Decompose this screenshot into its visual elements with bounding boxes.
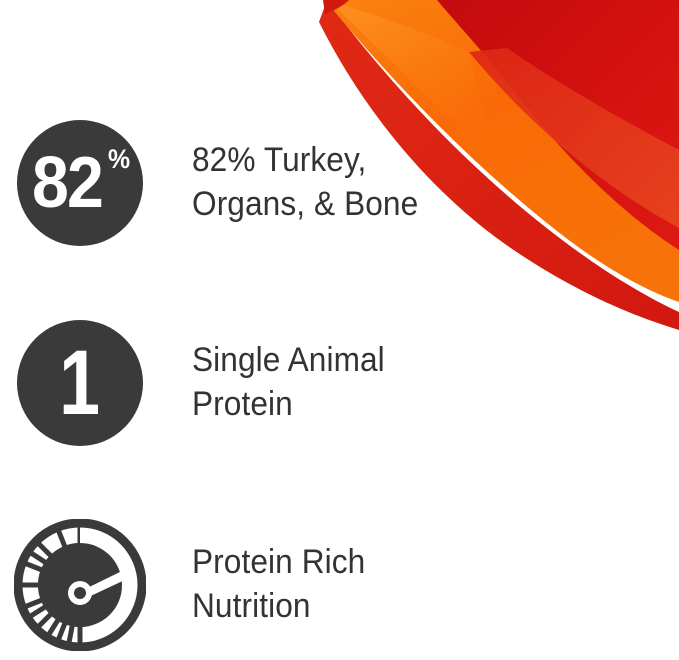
badge-slot xyxy=(0,512,160,657)
feature-label-protein-rich-nutrition: Protein Rich Nutrition xyxy=(192,541,365,628)
product-feature-panel: 82 % 82% Turkey, Organs, & Bone 1 Single… xyxy=(0,0,679,660)
badge-number-value: 82 xyxy=(32,147,102,219)
speedometer-gauge-icon xyxy=(14,519,146,651)
badge-slot: 82 % xyxy=(0,110,160,255)
badge-slot: 1 xyxy=(0,310,160,455)
percent-82-badge-icon: 82 % xyxy=(17,120,143,246)
feature-row-single-animal-protein: 1 Single Animal Protein xyxy=(0,310,560,455)
feature-row-protein-rich-nutrition: Protein Rich Nutrition xyxy=(0,512,560,657)
number-one-badge-icon: 1 xyxy=(17,320,143,446)
badge-percent-symbol: % xyxy=(107,146,129,173)
feature-label-turkey-organs-bone: 82% Turkey, Organs, & Bone xyxy=(192,139,418,226)
badge-number-value: 1 xyxy=(60,337,101,429)
feature-label-single-animal-protein: Single Animal Protein xyxy=(192,339,385,426)
feature-row-turkey-organs-bone: 82 % 82% Turkey, Organs, & Bone xyxy=(0,110,560,255)
